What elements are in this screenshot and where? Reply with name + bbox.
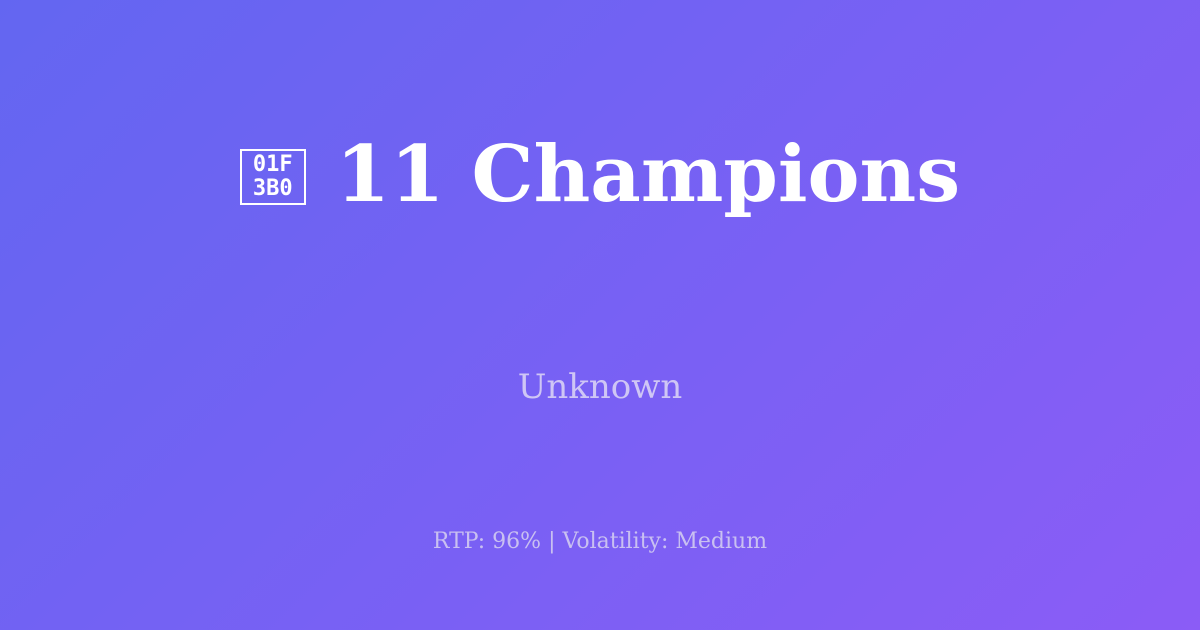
tofu-codepoint-bottom: 3B0: [253, 177, 293, 201]
game-stats-line: RTP: 96% | Volatility: Medium: [0, 525, 1200, 559]
tofu-codepoint-top: 01F: [253, 153, 293, 177]
game-og-card: 01F 3B0 11 Champions Unknown RTP: 96% | …: [0, 0, 1200, 630]
game-provider-label: Unknown: [0, 362, 1200, 412]
slot-machine-emoji-icon: 01F 3B0: [240, 149, 306, 205]
page-title: 11 Champions: [336, 136, 960, 214]
title-row: 01F 3B0 11 Champions: [0, 0, 1200, 350]
